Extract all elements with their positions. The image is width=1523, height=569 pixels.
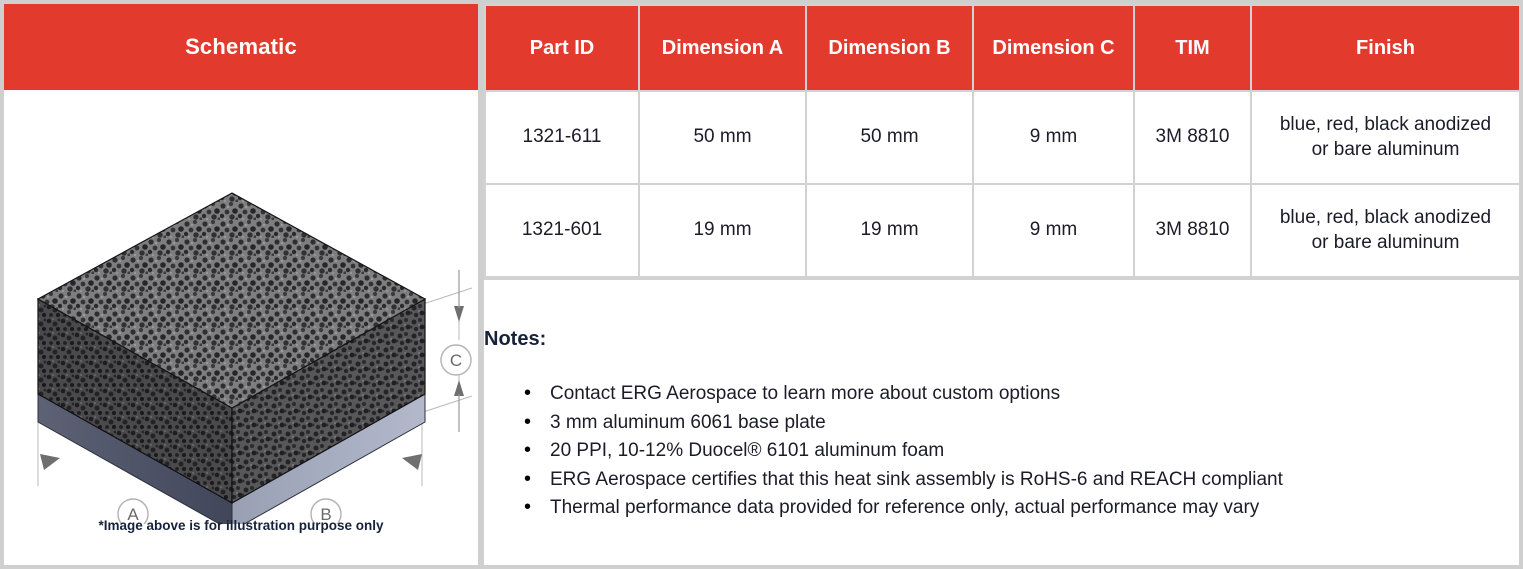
finish-line-2: or bare aluminum: [1312, 232, 1460, 253]
col-header-tim: TIM: [1134, 5, 1251, 91]
cell-part-id: 1321-611: [485, 91, 639, 184]
list-item: 3 mm aluminum 6061 base plate: [524, 409, 1283, 438]
callout-C-label: C: [450, 351, 462, 370]
notes-list: Contact ERG Aerospace to learn more abou…: [496, 380, 1283, 523]
cell-part-id: 1321-601: [485, 184, 639, 277]
cell-tim: 3M 8810: [1134, 184, 1251, 277]
table-row: 1321-601 19 mm 19 mm 9 mm 3M 8810 blue, …: [485, 184, 1520, 277]
cell-dimension-c: 9 mm: [973, 91, 1134, 184]
notes-section: Notes: Contact ERG Aerospace to learn mo…: [484, 278, 1519, 565]
notes-heading: Notes:: [484, 328, 546, 351]
schematic-header-label: Schematic: [185, 34, 297, 60]
col-header-dimension-b: Dimension B: [806, 5, 973, 91]
illustration-disclaimer: *Image above is for illustration purpose…: [4, 518, 478, 533]
list-item: 20 PPI, 10-12% Duocel® 6101 aluminum foa…: [524, 437, 1283, 466]
schematic-body: A B C *Image above is for illustration p…: [4, 94, 478, 565]
cell-dimension-b: 50 mm: [806, 91, 973, 184]
specs-panel: Part ID Dimension A Dimension B Dimensio…: [484, 4, 1519, 565]
cell-finish: blue, red, black anodized or bare alumin…: [1251, 91, 1520, 184]
col-header-dimension-c: Dimension C: [973, 5, 1134, 91]
col-header-finish: Finish: [1251, 5, 1520, 91]
schematic-panel: Schematic: [4, 4, 478, 565]
schematic-column-header: Schematic: [4, 4, 478, 90]
cell-dimension-b: 19 mm: [806, 184, 973, 277]
list-item: Thermal performance data provided for re…: [524, 494, 1283, 523]
cell-dimension-a: 19 mm: [639, 184, 806, 277]
cell-dimension-c: 9 mm: [973, 184, 1134, 277]
cell-tim: 3M 8810: [1134, 91, 1251, 184]
finish-line-1: blue, red, black anodized: [1280, 207, 1491, 228]
table-header-row: Part ID Dimension A Dimension B Dimensio…: [485, 5, 1520, 91]
finish-line-2: or bare aluminum: [1312, 139, 1460, 160]
list-item: ERG Aerospace certifies that this heat s…: [524, 466, 1283, 495]
cell-finish: blue, red, black anodized or bare alumin…: [1251, 184, 1520, 277]
table-row: 1321-611 50 mm 50 mm 9 mm 3M 8810 blue, …: [485, 91, 1520, 184]
spec-table: Part ID Dimension A Dimension B Dimensio…: [484, 4, 1521, 278]
list-item: Contact ERG Aerospace to learn more abou…: [524, 380, 1283, 409]
callout-C: C: [441, 345, 471, 375]
spec-sheet-page: Schematic: [0, 0, 1523, 569]
cell-dimension-a: 50 mm: [639, 91, 806, 184]
finish-line-1: blue, red, black anodized: [1280, 114, 1491, 135]
col-header-dimension-a: Dimension A: [639, 5, 806, 91]
heat-sink-figure: A B C: [4, 94, 478, 524]
heat-sink-svg: A B C: [4, 94, 478, 524]
col-header-part-id: Part ID: [485, 5, 639, 91]
